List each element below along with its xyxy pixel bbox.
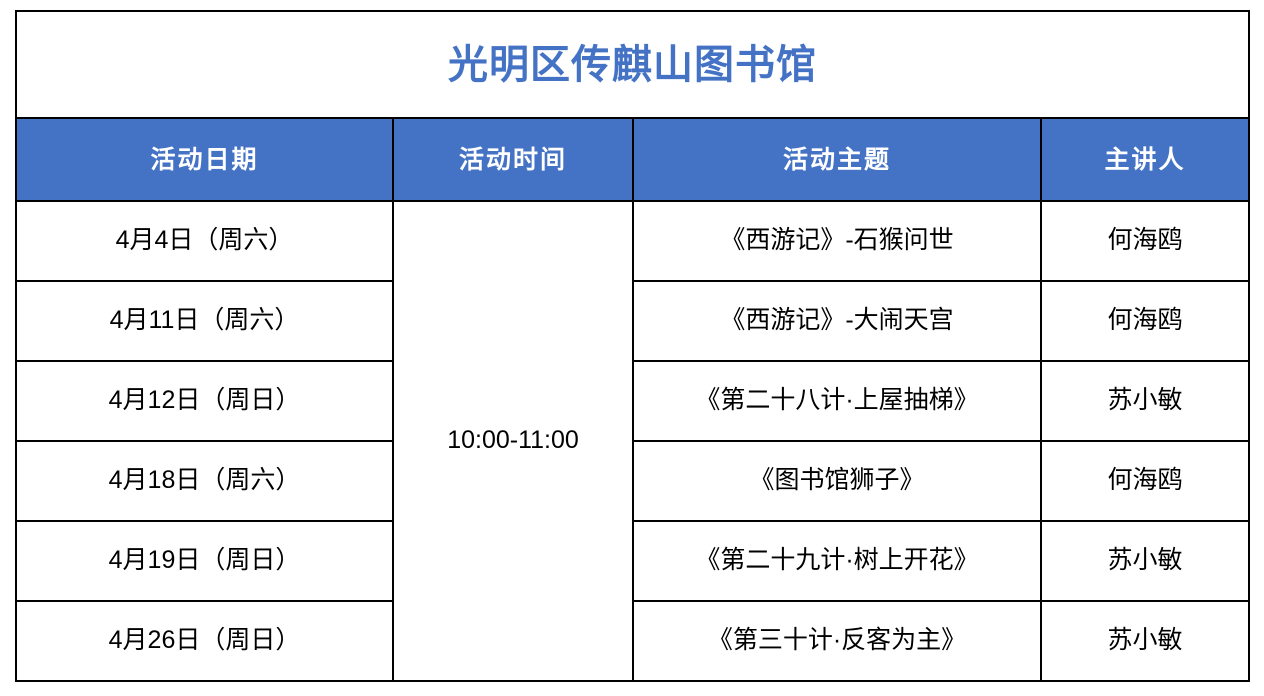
activity-schedule-table: 光明区传麒山图书馆 活动日期 活动时间 活动主题 主讲人 4月 (15, 10, 1250, 682)
cell-host: 何海鸥 (1041, 441, 1249, 521)
cell-host-text: 苏小敏 (1042, 625, 1248, 656)
column-header-host-label: 主讲人 (1042, 145, 1248, 175)
column-header-date: 活动日期 (16, 118, 393, 201)
cell-topic: 《图书馆狮子》 (633, 441, 1041, 521)
cell-time-merged: 10:00-11:00 (393, 201, 633, 681)
cell-host-text: 苏小敏 (1042, 385, 1248, 416)
table-row: 4月18日（周六） 《图书馆狮子》 何海鸥 (16, 441, 1249, 521)
cell-host: 何海鸥 (1041, 201, 1249, 281)
cell-date: 4月12日（周日） (16, 361, 393, 441)
cell-date: 4月18日（周六） (16, 441, 393, 521)
column-header-time-label: 活动时间 (394, 145, 632, 175)
column-header-host: 主讲人 (1041, 118, 1249, 201)
cell-host: 苏小敏 (1041, 361, 1249, 441)
cell-host: 苏小敏 (1041, 521, 1249, 601)
table-row: 4月11日（周六） 《西游记》-大闹天宫 何海鸥 (16, 281, 1249, 361)
table-row: 4月26日（周日） 《第三十计·反客为主》 苏小敏 (16, 601, 1249, 681)
table-row: 4月12日（周日） 《第二十八计·上屋抽梯》 苏小敏 (16, 361, 1249, 441)
cell-time-text: 10:00-11:00 (394, 425, 632, 456)
cell-topic: 《西游记》-石猴问世 (633, 201, 1041, 281)
cell-date-text: 4月18日（周六） (17, 465, 392, 496)
cell-date-text: 4月12日（周日） (17, 385, 392, 416)
title-row: 光明区传麒山图书馆 (16, 11, 1249, 118)
cell-date-text: 4月11日（周六） (17, 305, 392, 336)
cell-topic-text: 《第二十八计·上屋抽梯》 (634, 385, 1040, 416)
cell-date-text: 4月26日（周日） (17, 625, 392, 656)
cell-date-text: 4月19日（周日） (17, 545, 392, 576)
schedule-sheet: 光明区传麒山图书馆 活动日期 活动时间 活动主题 主讲人 4月 (15, 10, 1248, 680)
cell-topic-text: 《第三十计·反客为主》 (634, 625, 1040, 656)
cell-date: 4月4日（周六） (16, 201, 393, 281)
cell-host-text: 何海鸥 (1042, 225, 1248, 256)
column-header-topic: 活动主题 (633, 118, 1041, 201)
cell-topic: 《第二十九计·树上开花》 (633, 521, 1041, 601)
cell-date: 4月11日（周六） (16, 281, 393, 361)
cell-host-text: 何海鸥 (1042, 465, 1248, 496)
column-header-time: 活动时间 (393, 118, 633, 201)
cell-topic-text: 《第二十九计·树上开花》 (634, 545, 1040, 576)
cell-topic: 《西游记》-大闹天宫 (633, 281, 1041, 361)
cell-host-text: 苏小敏 (1042, 545, 1248, 576)
column-header-topic-label: 活动主题 (634, 145, 1040, 175)
table-row: 4月4日（周六） 10:00-11:00 《西游记》-石猴问世 何海鸥 (16, 201, 1249, 281)
cell-host: 何海鸥 (1041, 281, 1249, 361)
cell-topic: 《第三十计·反客为主》 (633, 601, 1041, 681)
cell-topic-text: 《图书馆狮子》 (634, 465, 1040, 496)
cell-date-text: 4月4日（周六） (17, 225, 392, 256)
column-header-date-label: 活动日期 (17, 145, 392, 175)
page-title: 光明区传麒山图书馆 (17, 43, 1248, 87)
cell-topic-text: 《西游记》-石猴问世 (634, 225, 1040, 256)
cell-date: 4月19日（周日） (16, 521, 393, 601)
table-header-row: 活动日期 活动时间 活动主题 主讲人 (16, 118, 1249, 201)
cell-topic: 《第二十八计·上屋抽梯》 (633, 361, 1041, 441)
page-title-cell: 光明区传麒山图书馆 (16, 11, 1249, 118)
table-row: 4月19日（周日） 《第二十九计·树上开花》 苏小敏 (16, 521, 1249, 601)
cell-host: 苏小敏 (1041, 601, 1249, 681)
cell-topic-text: 《西游记》-大闹天宫 (634, 305, 1040, 336)
cell-host-text: 何海鸥 (1042, 305, 1248, 336)
cell-date: 4月26日（周日） (16, 601, 393, 681)
